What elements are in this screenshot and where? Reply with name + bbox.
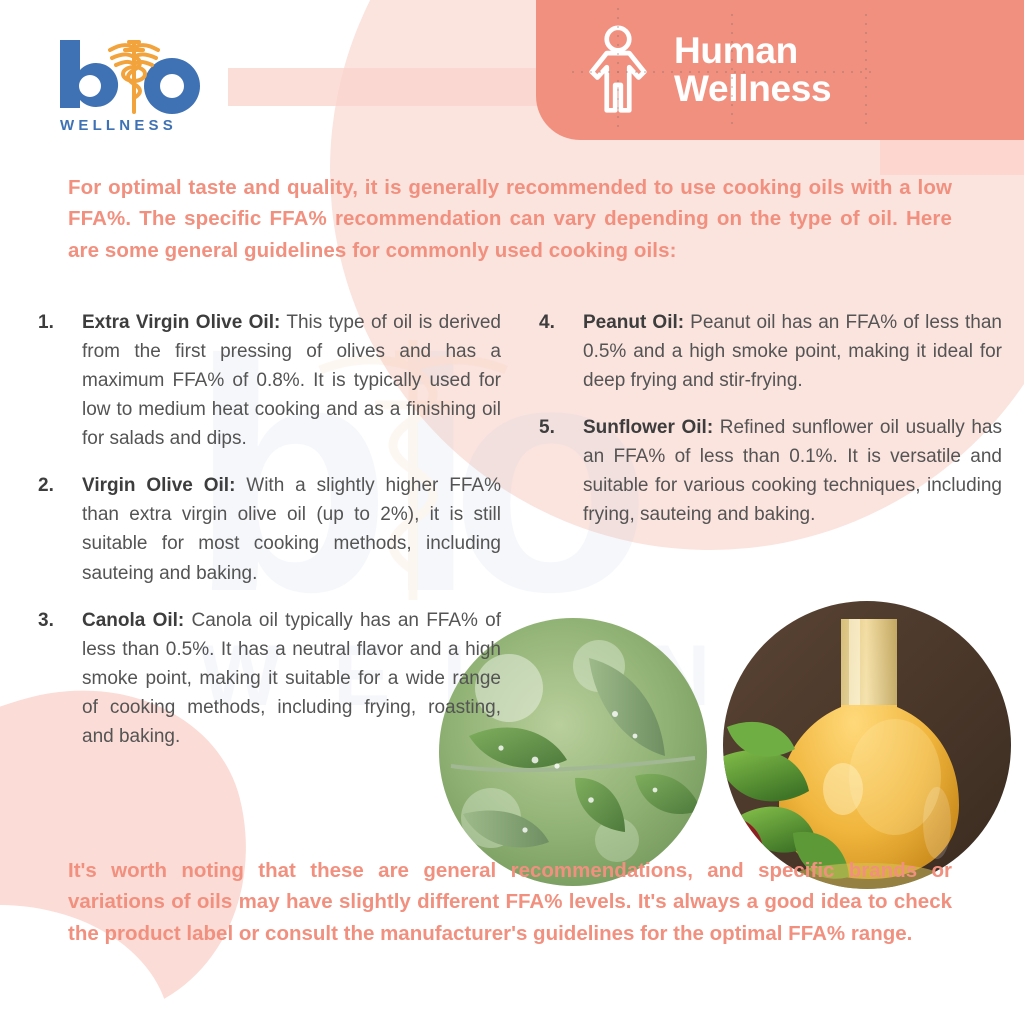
list-item-text: Virgin Olive Oil: With a slightly higher… — [82, 471, 501, 587]
logo-subtext: WELLNESS — [60, 117, 177, 134]
list-item: 1. Extra Virgin Olive Oil: This type of … — [38, 308, 501, 453]
list-item-term: Extra Virgin Olive Oil: — [82, 312, 280, 333]
person-icon — [588, 24, 648, 116]
intro-paragraph: For optimal taste and quality, it is gen… — [68, 172, 952, 266]
pink-band-shape-secondary — [880, 135, 1024, 175]
list-item-term: Sunflower Oil: — [583, 417, 713, 438]
oil-list-columns: 1. Extra Virgin Olive Oil: This type of … — [38, 308, 1002, 769]
right-column: 4. Peanut Oil: Peanut oil has an FFA% of… — [539, 308, 1002, 769]
list-item: 5. Sunflower Oil: Refined sunflower oil … — [539, 413, 1002, 529]
list-item-text: Extra Virgin Olive Oil: This type of oil… — [82, 308, 501, 453]
footer-paragraph: It's worth noting that these are general… — [68, 855, 952, 949]
list-item-term: Peanut Oil: — [583, 312, 684, 333]
list-item-number: 1. — [38, 308, 82, 453]
left-column: 1. Extra Virgin Olive Oil: This type of … — [38, 308, 501, 769]
poster-canvas: b i o W E L L N E S S — [0, 0, 1024, 1024]
list-item: 4. Peanut Oil: Peanut oil has an FFA% of… — [539, 308, 1002, 395]
list-item: 3. Canola Oil: Canola oil typically has … — [38, 606, 501, 751]
list-item-text: Canola Oil: Canola oil typically has an … — [82, 606, 501, 751]
list-item: 2. Virgin Olive Oil: With a slightly hig… — [38, 471, 501, 587]
header-banner: Human Wellness — [536, 0, 1024, 140]
banner-title: Human Wellness — [674, 32, 831, 107]
list-item-number: 3. — [38, 606, 82, 751]
list-item-term: Virgin Olive Oil: — [82, 475, 235, 496]
list-item-number: 4. — [539, 308, 583, 395]
list-item-number: 5. — [539, 413, 583, 529]
bio-wellness-logo: WELLNESS — [52, 34, 212, 134]
list-item-term: Canola Oil: — [82, 610, 184, 631]
list-item-text: Peanut Oil: Peanut oil has an FFA% of le… — [583, 308, 1002, 395]
list-item-number: 2. — [38, 471, 82, 587]
list-item-text: Sunflower Oil: Refined sunflower oil usu… — [583, 413, 1002, 529]
